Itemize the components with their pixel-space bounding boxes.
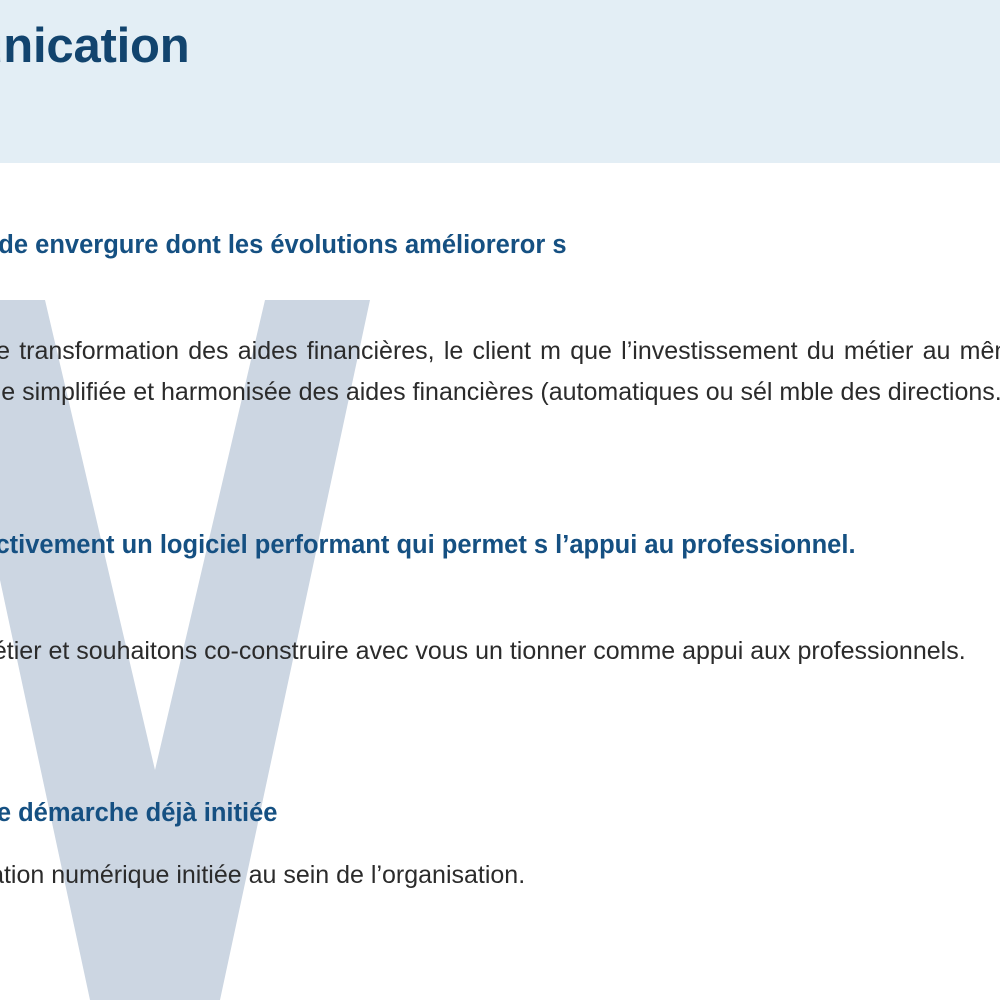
section-paragraph-2: ute des besoins métier et souhaitons co-… (0, 631, 1000, 672)
section-heading-1-wrapper: ntreprise de grande envergure dont les é… (0, 225, 1000, 266)
slide-title: communication egique (0, 8, 1000, 160)
slide-header-band: communication egique (0, 0, 1000, 163)
section-heading-3-wrapper: n numérique : une démarche déjà initiée (0, 793, 1000, 834)
section-heading-1: ntreprise de grande envergure dont les é… (0, 225, 1000, 266)
section-paragraph-1: sieurs tentatives de transformation des … (0, 331, 1000, 413)
slide-body: ntreprise de grande envergure dont les é… (0, 163, 1000, 1000)
section-paragraph-2-wrapper: ute des besoins métier et souhaitons co-… (0, 631, 1000, 672)
section-heading-2: : construire collectivement un logiciel … (0, 525, 1000, 566)
section-heading-3: n numérique : une démarche déjà initiée (0, 793, 1000, 834)
section-paragraph-3-wrapper: es de la transformation numérique initié… (0, 855, 1000, 896)
section-heading-2-wrapper: : construire collectivement un logiciel … (0, 525, 1000, 566)
section-paragraph-3: es de la transformation numérique initié… (0, 855, 1000, 896)
section-paragraph-1-wrapper: sieurs tentatives de transformation des … (0, 331, 1000, 413)
